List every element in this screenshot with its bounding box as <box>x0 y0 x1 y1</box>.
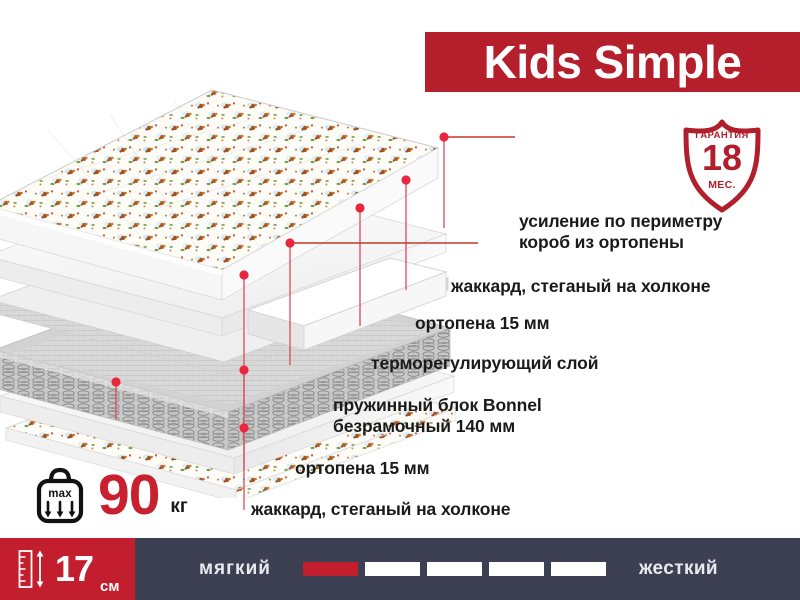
callout-label-bonnel-spring-block: пружинный блок Bonnel безрамочный 140 мм <box>333 395 542 436</box>
mattress-height-block: 17 см <box>0 538 135 600</box>
firmness-scale: мягкий жесткий <box>135 538 800 600</box>
firmness-segments <box>303 562 613 576</box>
weight-limit-badge: max 90 кг <box>33 464 188 526</box>
mattress-height-unit: см <box>100 578 119 595</box>
guarantee-bottom-label: МЕС. <box>678 179 766 191</box>
kettlebell-max-label: max <box>33 488 87 500</box>
firmness-soft-label: мягкий <box>199 558 271 580</box>
callout-label-jacquard-top: жаккард, стеганый на холконе <box>451 276 710 297</box>
footer-bar: 17 см мягкий жесткий <box>0 538 800 600</box>
weight-limit-unit: кг <box>170 496 187 518</box>
infographic-root: Kids Simple ГАРАНТИЯ 18 МЕС. усиление по… <box>0 0 800 600</box>
callout-label-orthofoam-top: ортопена 15 мм <box>415 313 549 334</box>
ruler-icon <box>18 549 48 589</box>
firmness-segment-4[interactable] <box>489 562 544 576</box>
mattress-height-value: 17 <box>55 551 93 587</box>
firmness-segment-5[interactable] <box>551 562 606 576</box>
product-title: Kids Simple <box>484 39 742 85</box>
callout-label-jacquard-bottom: жаккард, стеганый на холконе <box>251 499 510 520</box>
callout-label-thermoregulating-layer: терморегулирующий слой <box>371 353 598 374</box>
firmness-segment-1[interactable] <box>303 562 358 576</box>
guarantee-badge: ГАРАНТИЯ 18 МЕС. <box>678 118 766 214</box>
firmness-segment-3[interactable] <box>427 562 482 576</box>
firmness-segment-2[interactable] <box>365 562 420 576</box>
weight-limit-value: 90 <box>98 467 159 524</box>
firmness-firm-label: жесткий <box>639 558 718 580</box>
kettlebell-icon: max <box>33 466 87 524</box>
guarantee-value: 18 <box>678 140 766 176</box>
callout-label-perimeter-reinforcement: усиление по периметру короб из ортопены <box>519 211 722 252</box>
callout-label-orthofoam-bottom: ортопена 15 мм <box>295 458 429 479</box>
product-title-banner: Kids Simple <box>425 32 800 92</box>
